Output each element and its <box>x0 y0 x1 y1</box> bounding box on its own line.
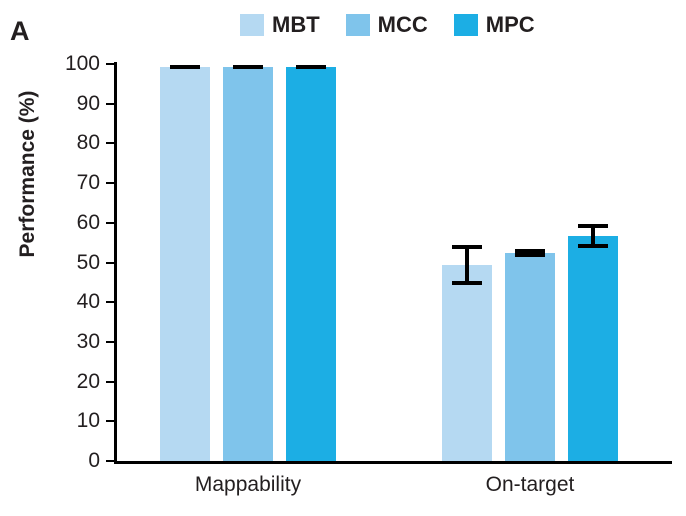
legend-swatch-mcc <box>346 14 370 36</box>
legend-label-mbt: MBT <box>272 14 320 36</box>
x-category-label-on-target: On-target <box>442 474 618 495</box>
error-bar-mbt-on-target <box>452 245 482 285</box>
plot-area <box>117 64 670 461</box>
y-tick-70 <box>106 182 115 184</box>
y-tick-50 <box>106 262 115 264</box>
legend-entry-mpc: MPC <box>454 14 535 36</box>
y-tick-label-0: 0 <box>36 450 100 471</box>
legend-swatch-mpc <box>454 14 478 36</box>
x-axis-line <box>114 461 672 464</box>
y-tick-label-90: 90 <box>36 93 100 114</box>
y-tick-label-20: 20 <box>36 371 100 392</box>
y-tick-60 <box>106 222 115 224</box>
error-bars-layer <box>117 64 670 461</box>
y-tick-label-30: 30 <box>36 331 100 352</box>
error-bar-mbt-mappability <box>170 65 200 69</box>
legend-swatch-mbt <box>240 14 264 36</box>
legend-entry-mbt: MBT <box>240 14 320 36</box>
legend-entry-mcc: MCC <box>346 14 428 36</box>
y-tick-90 <box>106 103 115 105</box>
panel-label: A <box>10 18 30 45</box>
legend: MBT MCC MPC <box>240 12 535 38</box>
y-tick-label-40: 40 <box>36 291 100 312</box>
y-axis-tick-labels: 0102030405060708090100 <box>32 0 100 516</box>
y-tick-label-50: 50 <box>36 252 100 273</box>
figure-panel-a: A MBT MCC MPC Performance (%) 0102030405… <box>0 0 686 516</box>
y-tick-label-80: 80 <box>36 132 100 153</box>
error-bar-mpc-mappability <box>296 65 326 69</box>
y-tick-label-60: 60 <box>36 212 100 233</box>
legend-label-mpc: MPC <box>486 14 535 36</box>
y-tick-10 <box>106 420 115 422</box>
y-tick-20 <box>106 381 115 383</box>
error-bar-mcc-mappability <box>233 65 263 69</box>
y-tick-label-70: 70 <box>36 172 100 193</box>
y-tick-30 <box>106 341 115 343</box>
y-tick-100 <box>106 63 115 65</box>
error-bar-stem <box>465 245 469 285</box>
y-tick-40 <box>106 301 115 303</box>
error-bar-cap-bottom <box>233 65 263 69</box>
error-bar-cap-bottom <box>578 244 608 248</box>
error-bar-cap-bottom <box>296 65 326 69</box>
y-tick-label-100: 100 <box>36 53 100 74</box>
y-tick-0 <box>106 460 115 462</box>
error-bar-cap-bottom <box>515 253 545 257</box>
legend-label-mcc: MCC <box>378 14 428 36</box>
error-bar-mcc-on-target <box>515 249 545 257</box>
error-bar-cap-bottom <box>452 281 482 285</box>
x-category-label-mappability: Mappability <box>160 474 336 495</box>
y-tick-label-10: 10 <box>36 410 100 431</box>
y-tick-80 <box>106 142 115 144</box>
error-bar-cap-bottom <box>170 65 200 69</box>
error-bar-mpc-on-target <box>578 224 608 248</box>
